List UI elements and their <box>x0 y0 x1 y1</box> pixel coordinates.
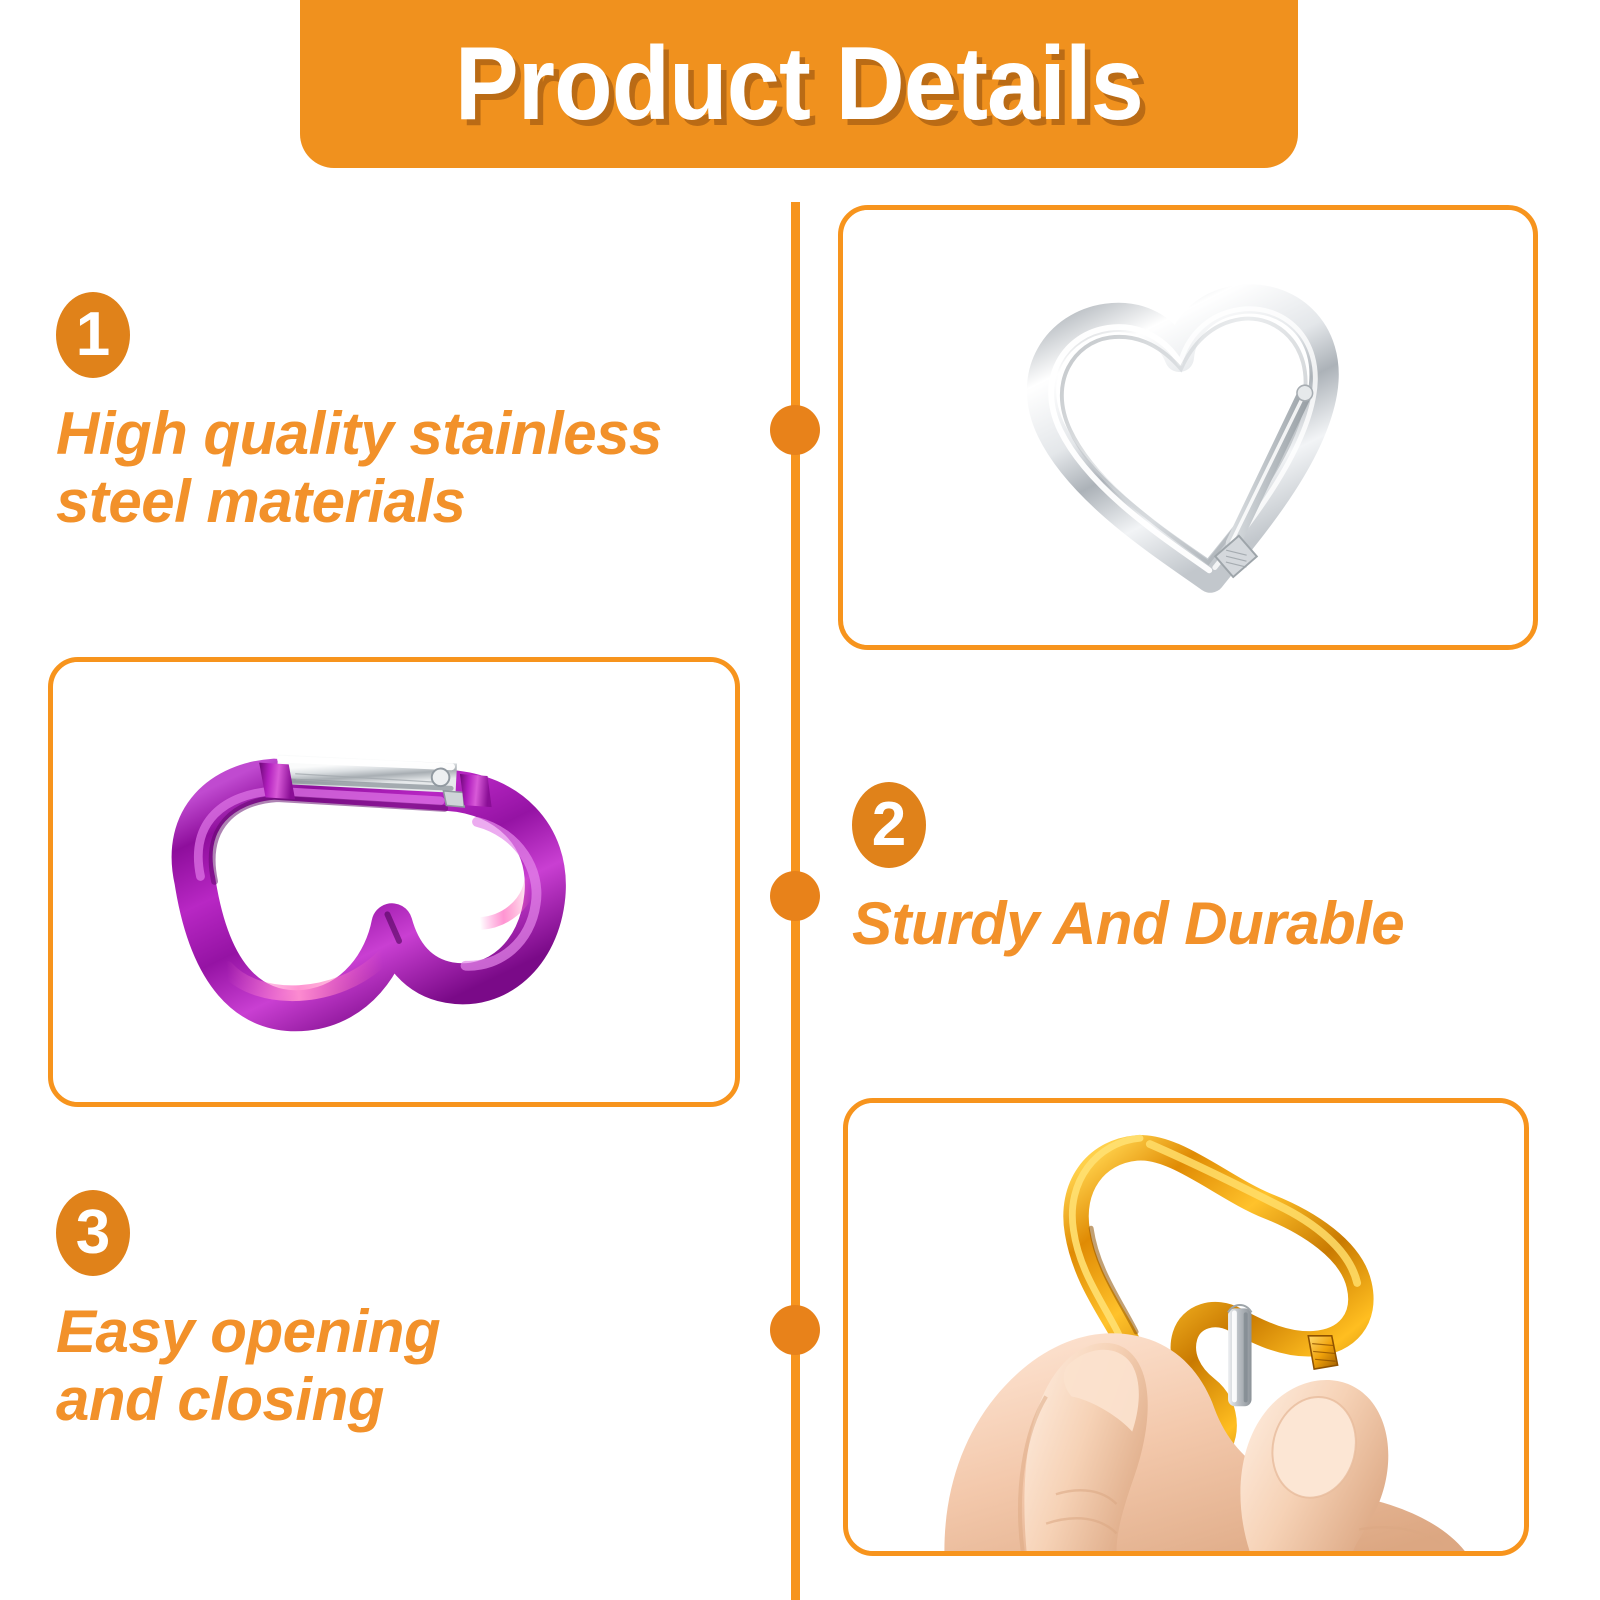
feature-label-3: Easy opening and closing <box>56 1298 756 1435</box>
feature-label-1: High quality stainless steel materials <box>56 400 756 537</box>
feature-item-3: 3 Easy opening and closing <box>56 1190 756 1435</box>
timeline-dot-2 <box>770 871 820 921</box>
silver-heart-carabiner-image <box>843 210 1533 645</box>
page-title: Product Details <box>455 32 1143 136</box>
carabiner-gate-tip <box>443 789 464 808</box>
photo-frame-silver-heart-carabiner <box>838 205 1538 650</box>
feature-item-2: 2 Sturdy And Durable <box>852 782 1552 958</box>
carabiner-gate-rivet <box>431 768 450 787</box>
feature-number-badge-2: 2 <box>852 782 926 868</box>
photo-frame-hand-holding-orange-carabiner <box>843 1098 1529 1556</box>
purple-heart-carabiner-image <box>53 662 735 1102</box>
timeline-dot-1 <box>770 405 820 455</box>
timeline-dot-3 <box>770 1305 820 1355</box>
feature-item-1: 1 High quality stainless steel materials <box>56 292 756 537</box>
hand-holding-orange-carabiner-image <box>848 1103 1524 1551</box>
feature-number-badge-1: 1 <box>56 292 130 378</box>
feature-number-badge-3: 3 <box>56 1190 130 1276</box>
header-banner: Product Details <box>300 0 1298 168</box>
carabiner-gate-pin <box>1228 1305 1251 1406</box>
feature-label-2: Sturdy And Durable <box>852 890 1552 958</box>
photo-frame-purple-heart-carabiner <box>48 657 740 1107</box>
carabiner-gate-collar-right <box>460 772 492 809</box>
